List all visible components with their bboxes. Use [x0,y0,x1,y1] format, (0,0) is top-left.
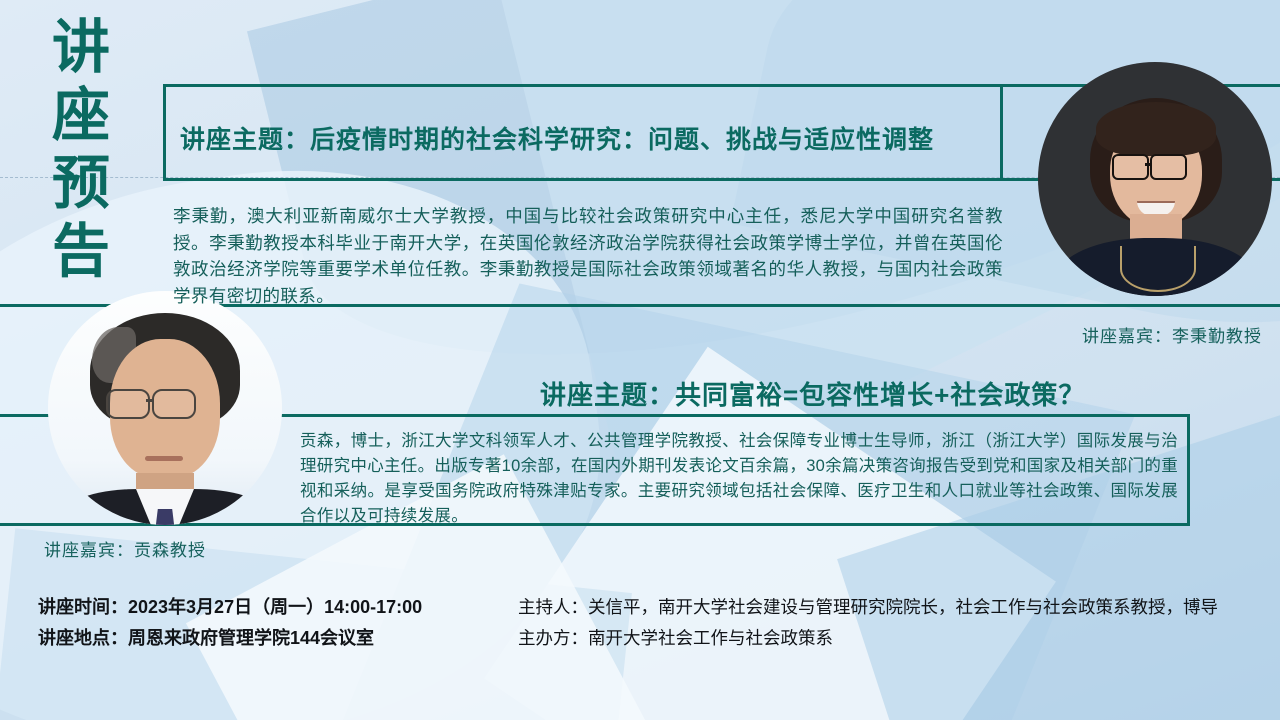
lecture-time: 讲座时间：2023年3月27日（周一）14:00-17:00 [38,592,422,623]
lecture2-guest-label: 讲座嘉宾：贡森教授 [44,536,206,561]
lecture1-guest-label: 讲座嘉宾：李秉勤教授 [1082,322,1262,347]
lecture-location: 讲座地点：周恩来政府管理学院144会议室 [38,623,422,654]
speaker2-portrait [48,291,282,525]
lecture-organizer: 主办方：南开大学社会工作与社会政策系 [518,623,1218,654]
lecture-host: 主持人：关信平，南开大学社会建设与管理研究院院长，社会工作与社会政策系教授，博导 [518,592,1218,623]
lecture1-title: 讲座主题：后疫情时期的社会科学研究：问题、挑战与适应性调整 [180,120,934,156]
footer-left-column: 讲座时间：2023年3月27日（周一）14:00-17:00 讲座地点：周恩来政… [38,592,422,654]
vertical-title-char-1: 讲 [36,14,128,82]
lecture-announcement-poster: 讲 座 预 告 讲座主题：后疫情时期的社会科学研究：问题、挑战与适应性调整 李秉… [0,0,1280,720]
speaker2-glasses-right [152,389,196,419]
vertical-title-char-2: 座 [36,82,128,150]
speaker2-glasses-left [106,389,150,419]
speaker2-glasses-bridge [146,399,154,402]
speaker1-glasses-right [1150,154,1187,180]
lecture2-title: 讲座主题：共同富裕=包容性增长+社会政策？ [540,375,1085,412]
speaker1-glasses-left [1112,154,1149,180]
lecture1-speaker-bio: 李秉勤，澳大利亚新南威尔士大学教授，中国与比较社会政策研究中心主任，悉尼大学中国… [173,203,1003,309]
speaker1-glasses-bridge [1145,163,1152,166]
footer-right-column: 主持人：关信平，南开大学社会建设与管理研究院院长，社会工作与社会政策系教授，博导… [518,592,1218,654]
poster-vertical-title: 讲 座 预 告 [36,14,128,286]
speaker2-mouth [145,456,183,461]
speaker1-portrait [1038,62,1272,296]
lecture2-speaker-bio: 贡森，博士，浙江大学文科领军人才、公共管理学院教授、社会保障专业博士生导师，浙江… [300,429,1178,529]
vertical-title-char-4: 告 [36,218,128,286]
vertical-title-char-3: 预 [36,150,128,218]
speaker1-necklace [1120,246,1196,292]
speaker1-fringe [1096,102,1216,156]
